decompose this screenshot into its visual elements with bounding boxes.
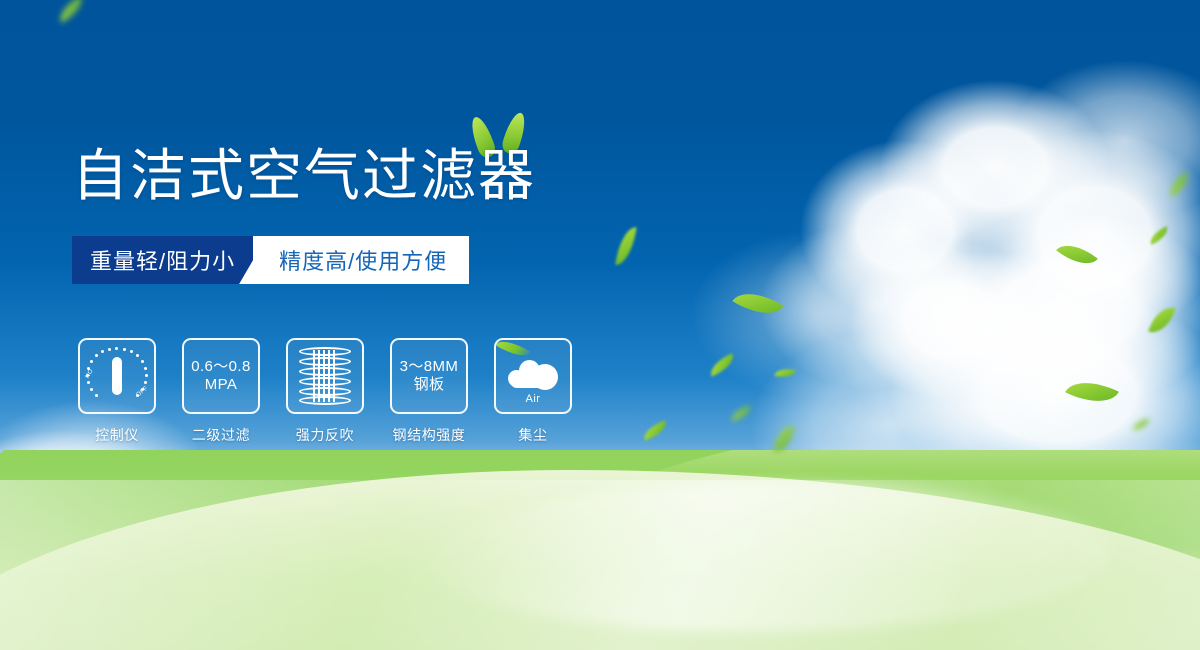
feature-item-controller[interactable]: NO OFF 控制仪	[78, 338, 156, 445]
filter-cartridge-icon	[299, 346, 351, 406]
feature-icon-box: Air	[494, 338, 572, 414]
air-cloud-icon: Air	[502, 348, 564, 404]
feature-item-two-stage-filter[interactable]: 0.6～0.8 MPA 二级过滤	[182, 338, 260, 445]
steel-plate-icon: 3～8MM 钢板	[400, 358, 459, 395]
steel-plate-line2: 钢板	[400, 376, 459, 394]
dial-label-no: NO	[85, 368, 95, 379]
feature-icon-box: 0.6～0.8 MPA	[182, 338, 260, 414]
leaf-icon	[641, 420, 670, 440]
dial-needle-icon	[112, 357, 122, 395]
feature-label: 控制仪	[95, 425, 139, 445]
leaf-icon	[615, 225, 636, 267]
air-label: Air	[502, 393, 564, 405]
feature-label: 集尘	[518, 425, 547, 445]
feature-label: 强力反吹	[296, 425, 354, 445]
leaf-icon	[54, 0, 88, 23]
pressure-value-icon: 0.6～0.8 MPA	[191, 358, 251, 395]
feature-item-backblow[interactable]: 强力反吹	[286, 338, 364, 445]
subtitle-bar: 重量轻/阻力小 精度高/使用方便	[72, 236, 469, 284]
subtitle-left-tag: 重量轻/阻力小	[72, 236, 267, 284]
steel-plate-line1: 3～8MM	[400, 358, 459, 376]
feature-label: 二级过滤	[192, 425, 250, 445]
subtitle-right-tag: 精度高/使用方便	[253, 236, 469, 284]
page-title: 自洁式空气过滤器	[72, 146, 536, 206]
feature-icon-box	[286, 338, 364, 414]
grass-field	[0, 450, 1200, 650]
feature-icon-box: NO OFF	[78, 338, 156, 414]
pressure-value-line1: 0.6～0.8	[191, 358, 251, 376]
dial-label-off: OFF	[136, 386, 150, 399]
feature-list: NO OFF 控制仪 0.6～0.8 MPA 二级过滤	[78, 338, 572, 445]
pressure-value-line2: MPA	[191, 376, 251, 394]
leaf-streak-icon	[495, 338, 531, 363]
product-hero-banner: 自洁式空气过滤器 重量轻/阻力小 精度高/使用方便	[0, 0, 1200, 650]
rotary-dial-icon: NO OFF	[85, 345, 149, 407]
feature-icon-box: 3～8MM 钢板	[390, 338, 468, 414]
feature-item-dust-collection[interactable]: Air 集尘	[494, 338, 572, 445]
feature-item-steel-strength[interactable]: 3～8MM 钢板 钢结构强度	[390, 338, 468, 445]
feature-label: 钢结构强度	[393, 425, 466, 445]
